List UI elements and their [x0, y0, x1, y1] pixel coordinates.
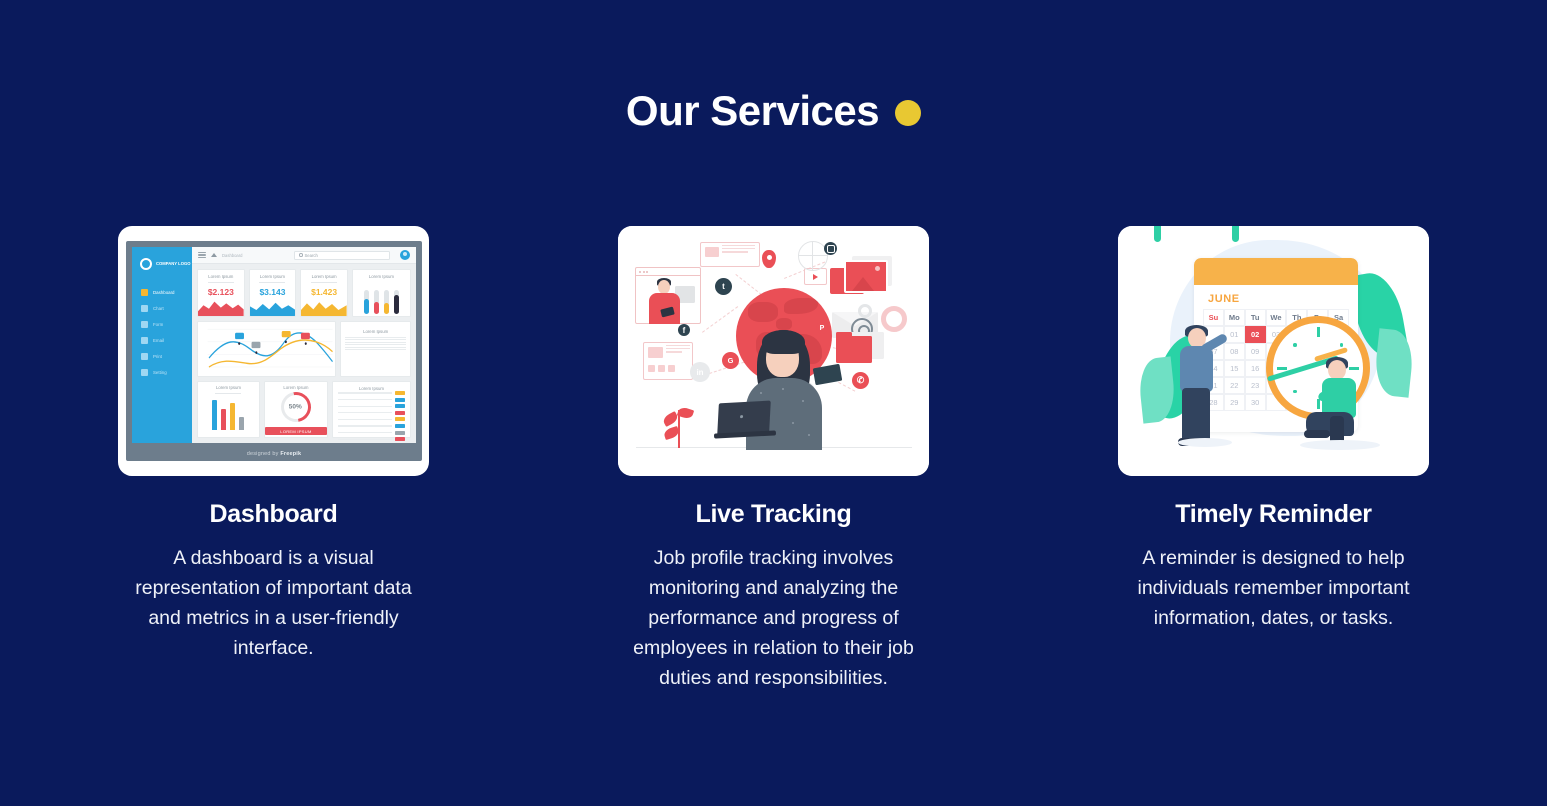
calendar-day[interactable]: 23	[1245, 377, 1266, 394]
gauge-group	[364, 290, 399, 314]
mockup-bottom-row: Lorem Ipsum	[192, 377, 416, 443]
calendar-day-selected[interactable]: 02	[1245, 326, 1266, 343]
person-standing	[1174, 326, 1226, 448]
man-head	[658, 280, 670, 294]
window-bar	[636, 268, 700, 276]
whatsapp-icon: ✆	[852, 372, 869, 389]
gauge-bar	[374, 290, 379, 314]
shadow	[1178, 438, 1232, 447]
calendar-day[interactable]: 01	[1224, 326, 1245, 343]
page-title: Our Services	[626, 90, 879, 132]
sidebar-item-label: Print	[153, 354, 162, 359]
woman-hair-front	[762, 330, 805, 354]
location-pin-icon	[762, 250, 776, 268]
dashboard-screen: COMPANY LOGO Dashboard Chart	[132, 247, 416, 443]
card-description: A dashboard is a visual representation o…	[124, 543, 424, 663]
section-header: Our Services	[0, 90, 1547, 132]
image-icon	[844, 260, 888, 293]
social-network-scene: t f G in Be P ✆	[618, 226, 929, 476]
chart-icon	[141, 305, 148, 312]
placeholder-lines	[345, 337, 406, 350]
home-icon[interactable]	[211, 253, 217, 257]
donut-chart-panel: Lorem Ipsum 50% LOREM IPSUM	[264, 381, 328, 438]
plant-icon	[662, 404, 696, 448]
list-item	[338, 431, 405, 435]
mockup-cta-button[interactable]: LOREM IPSUM	[265, 427, 327, 435]
calendar-header	[1194, 258, 1358, 285]
sidebar-item-label: Dashboard	[153, 290, 174, 295]
sidebar-item-setting[interactable]: Setting	[132, 364, 192, 380]
panel-label: Lorem Ipsum	[216, 382, 241, 390]
print-icon	[141, 353, 148, 360]
gear-icon	[141, 369, 148, 376]
gauge-labels: ————	[364, 317, 399, 318]
video-call-window	[635, 267, 701, 324]
twitter-icon: t	[715, 278, 732, 295]
list-item	[338, 391, 405, 395]
weekday-header: Tu	[1245, 309, 1266, 326]
service-card-dashboard[interactable]: COMPANY LOGO Dashboard Chart	[118, 226, 429, 693]
stat-value: $2.123	[208, 287, 234, 297]
mockup-stat-row: Lorem Ipsum $2.123 Lorem Ipsum	[192, 264, 416, 317]
dashboard-illustration: COMPANY LOGO Dashboard Chart	[118, 226, 429, 476]
stat-card: Lorem Ipsum $1.423	[300, 269, 348, 317]
search-icon	[299, 253, 303, 257]
tag-list-panel: Lorem Ipsum	[332, 381, 411, 438]
services-card-grid: COMPANY LOGO Dashboard Chart	[0, 226, 1547, 693]
mockup-sidebar: COMPANY LOGO Dashboard Chart	[132, 247, 192, 443]
stat-value: $3.143	[259, 287, 285, 297]
calendar-ring	[1154, 226, 1161, 242]
sidebar-item-chart[interactable]: Chart	[132, 300, 192, 316]
card-description: Job profile tracking involves monitoring…	[624, 543, 924, 693]
mockup-nav: Dashboard Chart Form	[132, 284, 192, 380]
area-chart-icon	[250, 298, 296, 316]
gauge-bar	[394, 290, 399, 314]
card-title: Timely Reminder	[1175, 500, 1372, 529]
weekday-header: Mo	[1224, 309, 1245, 326]
stat-card: Lorem Ipsum $3.143	[249, 269, 297, 317]
calendar-month-label: JUNE	[1194, 285, 1358, 309]
service-card-live-tracking[interactable]: t f G in Be P ✆	[618, 226, 929, 693]
card-title: Live Tracking	[696, 500, 852, 529]
list-item	[338, 398, 405, 402]
post-card	[700, 242, 760, 267]
calendar-day[interactable]: 16	[1245, 360, 1266, 377]
area-chart-icon	[198, 298, 244, 316]
linkedin-icon: in	[690, 362, 710, 382]
image-stack	[830, 256, 892, 300]
freepik-credit: designed by Freepik	[126, 451, 422, 457]
panel-label: Lorem Ipsum	[283, 382, 308, 390]
bar-chart-icon	[212, 400, 244, 430]
sidebar-item-label: Email	[153, 338, 164, 343]
mockup-logo: COMPANY LOGO	[132, 254, 192, 270]
mockup-topbar: Dashboard Search	[192, 247, 416, 264]
weekday-header: Su	[1203, 309, 1224, 326]
stat-label: Lorem Ipsum	[260, 274, 285, 279]
mockup-main: Dashboard Search Lorem Ipsum	[192, 247, 416, 443]
calendar-day[interactable]: 08	[1224, 343, 1245, 360]
calendar-ring	[1232, 226, 1239, 242]
live-tracking-illustration: t f G in Be P ✆	[618, 226, 929, 476]
instagram-icon	[824, 242, 837, 255]
panel-label: Lorem Ipsum	[369, 274, 394, 279]
donut-chart-icon: 50%	[275, 386, 317, 428]
sidebar-item-label: Setting	[153, 370, 167, 375]
avatar[interactable]	[400, 250, 410, 260]
hamburger-icon[interactable]	[198, 252, 206, 259]
calendar-day[interactable]: 22	[1224, 377, 1245, 394]
person-kneeling	[1304, 354, 1376, 450]
mockup-mid-row: Lorem Ipsum	[192, 317, 416, 377]
gear-icon	[881, 306, 907, 332]
dashboard-frame: COMPANY LOGO Dashboard Chart	[126, 241, 422, 461]
mockup-logo-label: COMPANY LOGO	[156, 261, 191, 267]
search-placeholder: Search	[305, 253, 318, 258]
calendar-day[interactable]: 30	[1245, 394, 1266, 411]
stat-card: Lorem Ipsum $2.123	[197, 269, 245, 317]
services-section: Our Services COMPANY LOGO	[0, 0, 1547, 806]
sidebar-item-print[interactable]: Print	[132, 348, 192, 364]
gear-icon	[858, 304, 872, 318]
connector-line	[702, 306, 738, 333]
list-item	[338, 424, 405, 428]
service-card-timely-reminder[interactable]: JUNE Su Mo Tu We Th Fr Sa 01 02	[1118, 226, 1429, 693]
gauge-bar	[384, 290, 389, 314]
gauge-bar	[364, 290, 369, 314]
sidebar-item-email[interactable]: Email	[132, 332, 192, 348]
weekday-header: We	[1266, 309, 1287, 326]
pinterest-icon: P	[816, 322, 828, 334]
area-chart-icon	[301, 298, 347, 316]
stat-value: $1.423	[311, 287, 337, 297]
post-card	[643, 342, 693, 380]
calendar-day[interactable]: 29	[1224, 394, 1245, 411]
list-item	[338, 411, 405, 415]
gauge-panel: Lorem Ipsum ————	[352, 269, 411, 317]
panel-label: Lorem Ipsum	[345, 326, 406, 334]
calendar-day[interactable]: 15	[1224, 360, 1245, 377]
sidebar-item-dashboard[interactable]: Dashboard	[132, 284, 192, 300]
timely-reminder-illustration: JUNE Su Mo Tu We Th Fr Sa 01 02	[1118, 226, 1429, 476]
shadow	[1300, 440, 1380, 450]
stat-label: Lorem Ipsum	[312, 274, 337, 279]
facebook-icon: f	[678, 324, 690, 336]
play-icon	[813, 274, 818, 280]
google-plus-icon: G	[722, 352, 739, 369]
stat-label: Lorem Ipsum	[208, 274, 233, 279]
list-panel: Lorem Ipsum	[340, 321, 411, 377]
folder-icon	[836, 336, 872, 363]
card-description: A reminder is designed to help individua…	[1124, 543, 1424, 633]
list-item	[338, 404, 405, 408]
list-item	[338, 417, 405, 421]
sidebar-item-label: Form	[153, 322, 163, 327]
home-icon	[141, 289, 148, 296]
logo-ring-icon	[140, 258, 152, 270]
bar-chart-panel: Lorem Ipsum	[197, 381, 260, 438]
mail-icon	[141, 337, 148, 344]
card-title: Dashboard	[210, 500, 338, 529]
donut-value: 50%	[289, 403, 302, 410]
list-item	[338, 437, 405, 441]
line-chart-icon	[198, 322, 335, 376]
search-input[interactable]: Search	[294, 251, 390, 260]
breadcrumb: Dashboard	[222, 253, 243, 258]
form-icon	[141, 321, 148, 328]
calendar-clock-scene: JUNE Su Mo Tu We Th Fr Sa 01 02	[1118, 226, 1429, 476]
sidebar-item-label: Chart	[153, 306, 164, 311]
leaf-shape	[1373, 328, 1416, 397]
line-chart-panel	[197, 321, 336, 377]
yellow-dot-icon	[895, 100, 921, 126]
sidebar-item-form[interactable]: Form	[132, 316, 192, 332]
calendar-day[interactable]: 09	[1245, 343, 1266, 360]
